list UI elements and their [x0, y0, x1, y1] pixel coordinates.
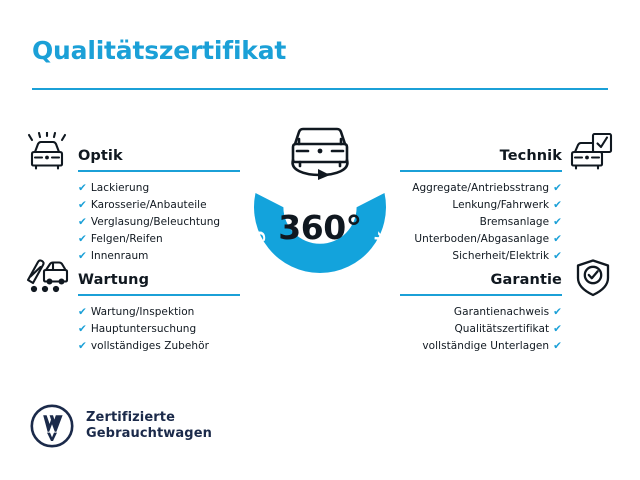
section-optik-title: Optik	[78, 148, 123, 164]
list-item: ✔Karosserie/Anbauteile	[78, 197, 240, 214]
list-item: ✔Hauptuntersuchung	[78, 321, 240, 338]
section-technik: Technik Aggregate/Antriebsstrang✔ Lenkun…	[400, 142, 562, 265]
check-icon: ✔	[553, 323, 562, 335]
list-item-label: Wartung/Inspektion	[91, 306, 195, 318]
car-shine-icon	[24, 132, 70, 172]
section-technik-list: Aggregate/Antriebsstrang✔ Lenkung/Fahrwe…	[400, 180, 562, 265]
section-optik-divider	[78, 170, 240, 172]
section-wartung-list: ✔Wartung/Inspektion ✔Hauptuntersuchung ✔…	[78, 304, 240, 355]
list-item-label: Bremsanlage	[480, 216, 550, 228]
car-wrench-icon	[24, 256, 70, 296]
list-item: ✔Lackierung	[78, 180, 240, 197]
list-item-label: Karosserie/Anbauteile	[91, 199, 207, 211]
list-item-label: Felgen/Reifen	[91, 233, 163, 245]
section-garantie: Garantie Garantienachweis✔ Qualitätszert…	[400, 266, 562, 355]
list-item: vollständige Unterlagen✔	[400, 338, 562, 355]
list-item-label: Aggregate/Antriebsstrang	[412, 182, 549, 194]
check-icon: ✔	[553, 233, 562, 245]
footer-line-1: Zertifizierte	[86, 410, 212, 426]
check-icon: ✔	[78, 250, 87, 262]
list-item-label: Lenkung/Fahrwerk	[452, 199, 549, 211]
list-item: Unterboden/Abgasanlage✔	[400, 231, 562, 248]
header-divider	[32, 88, 608, 90]
section-wartung: Wartung ✔Wartung/Inspektion ✔Hauptunters…	[78, 266, 240, 355]
section-garantie-divider	[400, 294, 562, 296]
list-item-label: vollständiges Zubehör	[91, 340, 209, 352]
list-item: ✔Verglasung/Beleuchtung	[78, 214, 240, 231]
check-icon: ✔	[78, 233, 87, 245]
check-icon: ✔	[553, 306, 562, 318]
check-icon: ✔	[78, 306, 87, 318]
list-item: Aggregate/Antriebsstrang✔	[400, 180, 562, 197]
section-optik: Optik ✔Lackierung ✔Karosserie/Anbauteile…	[78, 142, 240, 265]
vw-logo-icon	[30, 404, 74, 448]
list-item-label: Garantienachweis	[454, 306, 549, 318]
section-garantie-list: Garantienachweis✔ Qualitätszertifikat✔ v…	[400, 304, 562, 355]
check-icon: ✔	[553, 182, 562, 194]
footer-brand: Zertifizierte Gebrauchtwagen	[30, 404, 212, 448]
list-item: Bremsanlage✔	[400, 214, 562, 231]
badge-center-label: 360°	[228, 208, 412, 247]
list-item: ✔vollständiges Zubehör	[78, 338, 240, 355]
list-item: ✔Wartung/Inspektion	[78, 304, 240, 321]
check-icon: ✔	[78, 216, 87, 228]
section-technik-header: Technik	[400, 142, 562, 172]
section-wartung-header: Wartung	[78, 266, 240, 296]
footer-text: Zertifizierte Gebrauchtwagen	[86, 410, 212, 442]
list-item: ✔Innenraum	[78, 248, 240, 265]
list-item-label: Innenraum	[91, 250, 149, 262]
list-item-label: Lackierung	[91, 182, 149, 194]
section-wartung-divider	[78, 294, 240, 296]
check-icon: ✔	[553, 340, 562, 352]
list-item: Qualitätszertifikat✔	[400, 321, 562, 338]
list-item-label: Unterboden/Abgasanlage	[414, 233, 549, 245]
list-item-label: Verglasung/Beleuchtung	[91, 216, 220, 228]
footer-line-2: Gebrauchtwagen	[86, 426, 212, 442]
shield-check-icon	[570, 258, 616, 298]
list-item: Sicherheit/Elektrik✔	[400, 248, 562, 265]
car-checkbox-icon	[568, 132, 614, 172]
list-item-label: Sicherheit/Elektrik	[452, 250, 549, 262]
section-optik-list: ✔Lackierung ✔Karosserie/Anbauteile ✔Verg…	[78, 180, 240, 265]
quality-certificate-page: Qualitätszertifikat Gebrauchtwagen-Check	[0, 0, 640, 480]
car-rotate-360-icon	[278, 122, 362, 180]
list-item: ✔Felgen/Reifen	[78, 231, 240, 248]
check-icon: ✔	[78, 340, 87, 352]
check-icon: ✔	[553, 216, 562, 228]
check-icon: ✔	[78, 199, 87, 211]
section-garantie-title: Garantie	[491, 272, 562, 288]
check-icon: ✔	[553, 199, 562, 211]
check-icon: ✔	[78, 323, 87, 335]
check-icon: ✔	[78, 182, 87, 194]
section-technik-title: Technik	[500, 148, 562, 164]
list-item-label: vollständige Unterlagen	[422, 340, 549, 352]
check-icon: ✔	[553, 250, 562, 262]
360-check-badge: Gebrauchtwagen-Check	[228, 152, 412, 310]
section-technik-divider	[400, 170, 562, 172]
section-optik-header: Optik	[78, 142, 240, 172]
page-title: Qualitätszertifikat	[32, 36, 286, 65]
section-garantie-header: Garantie	[400, 266, 562, 296]
list-item-label: Hauptuntersuchung	[91, 323, 196, 335]
list-item-label: Qualitätszertifikat	[454, 323, 549, 335]
section-wartung-title: Wartung	[78, 272, 149, 288]
list-item: Garantienachweis✔	[400, 304, 562, 321]
list-item: Lenkung/Fahrwerk✔	[400, 197, 562, 214]
